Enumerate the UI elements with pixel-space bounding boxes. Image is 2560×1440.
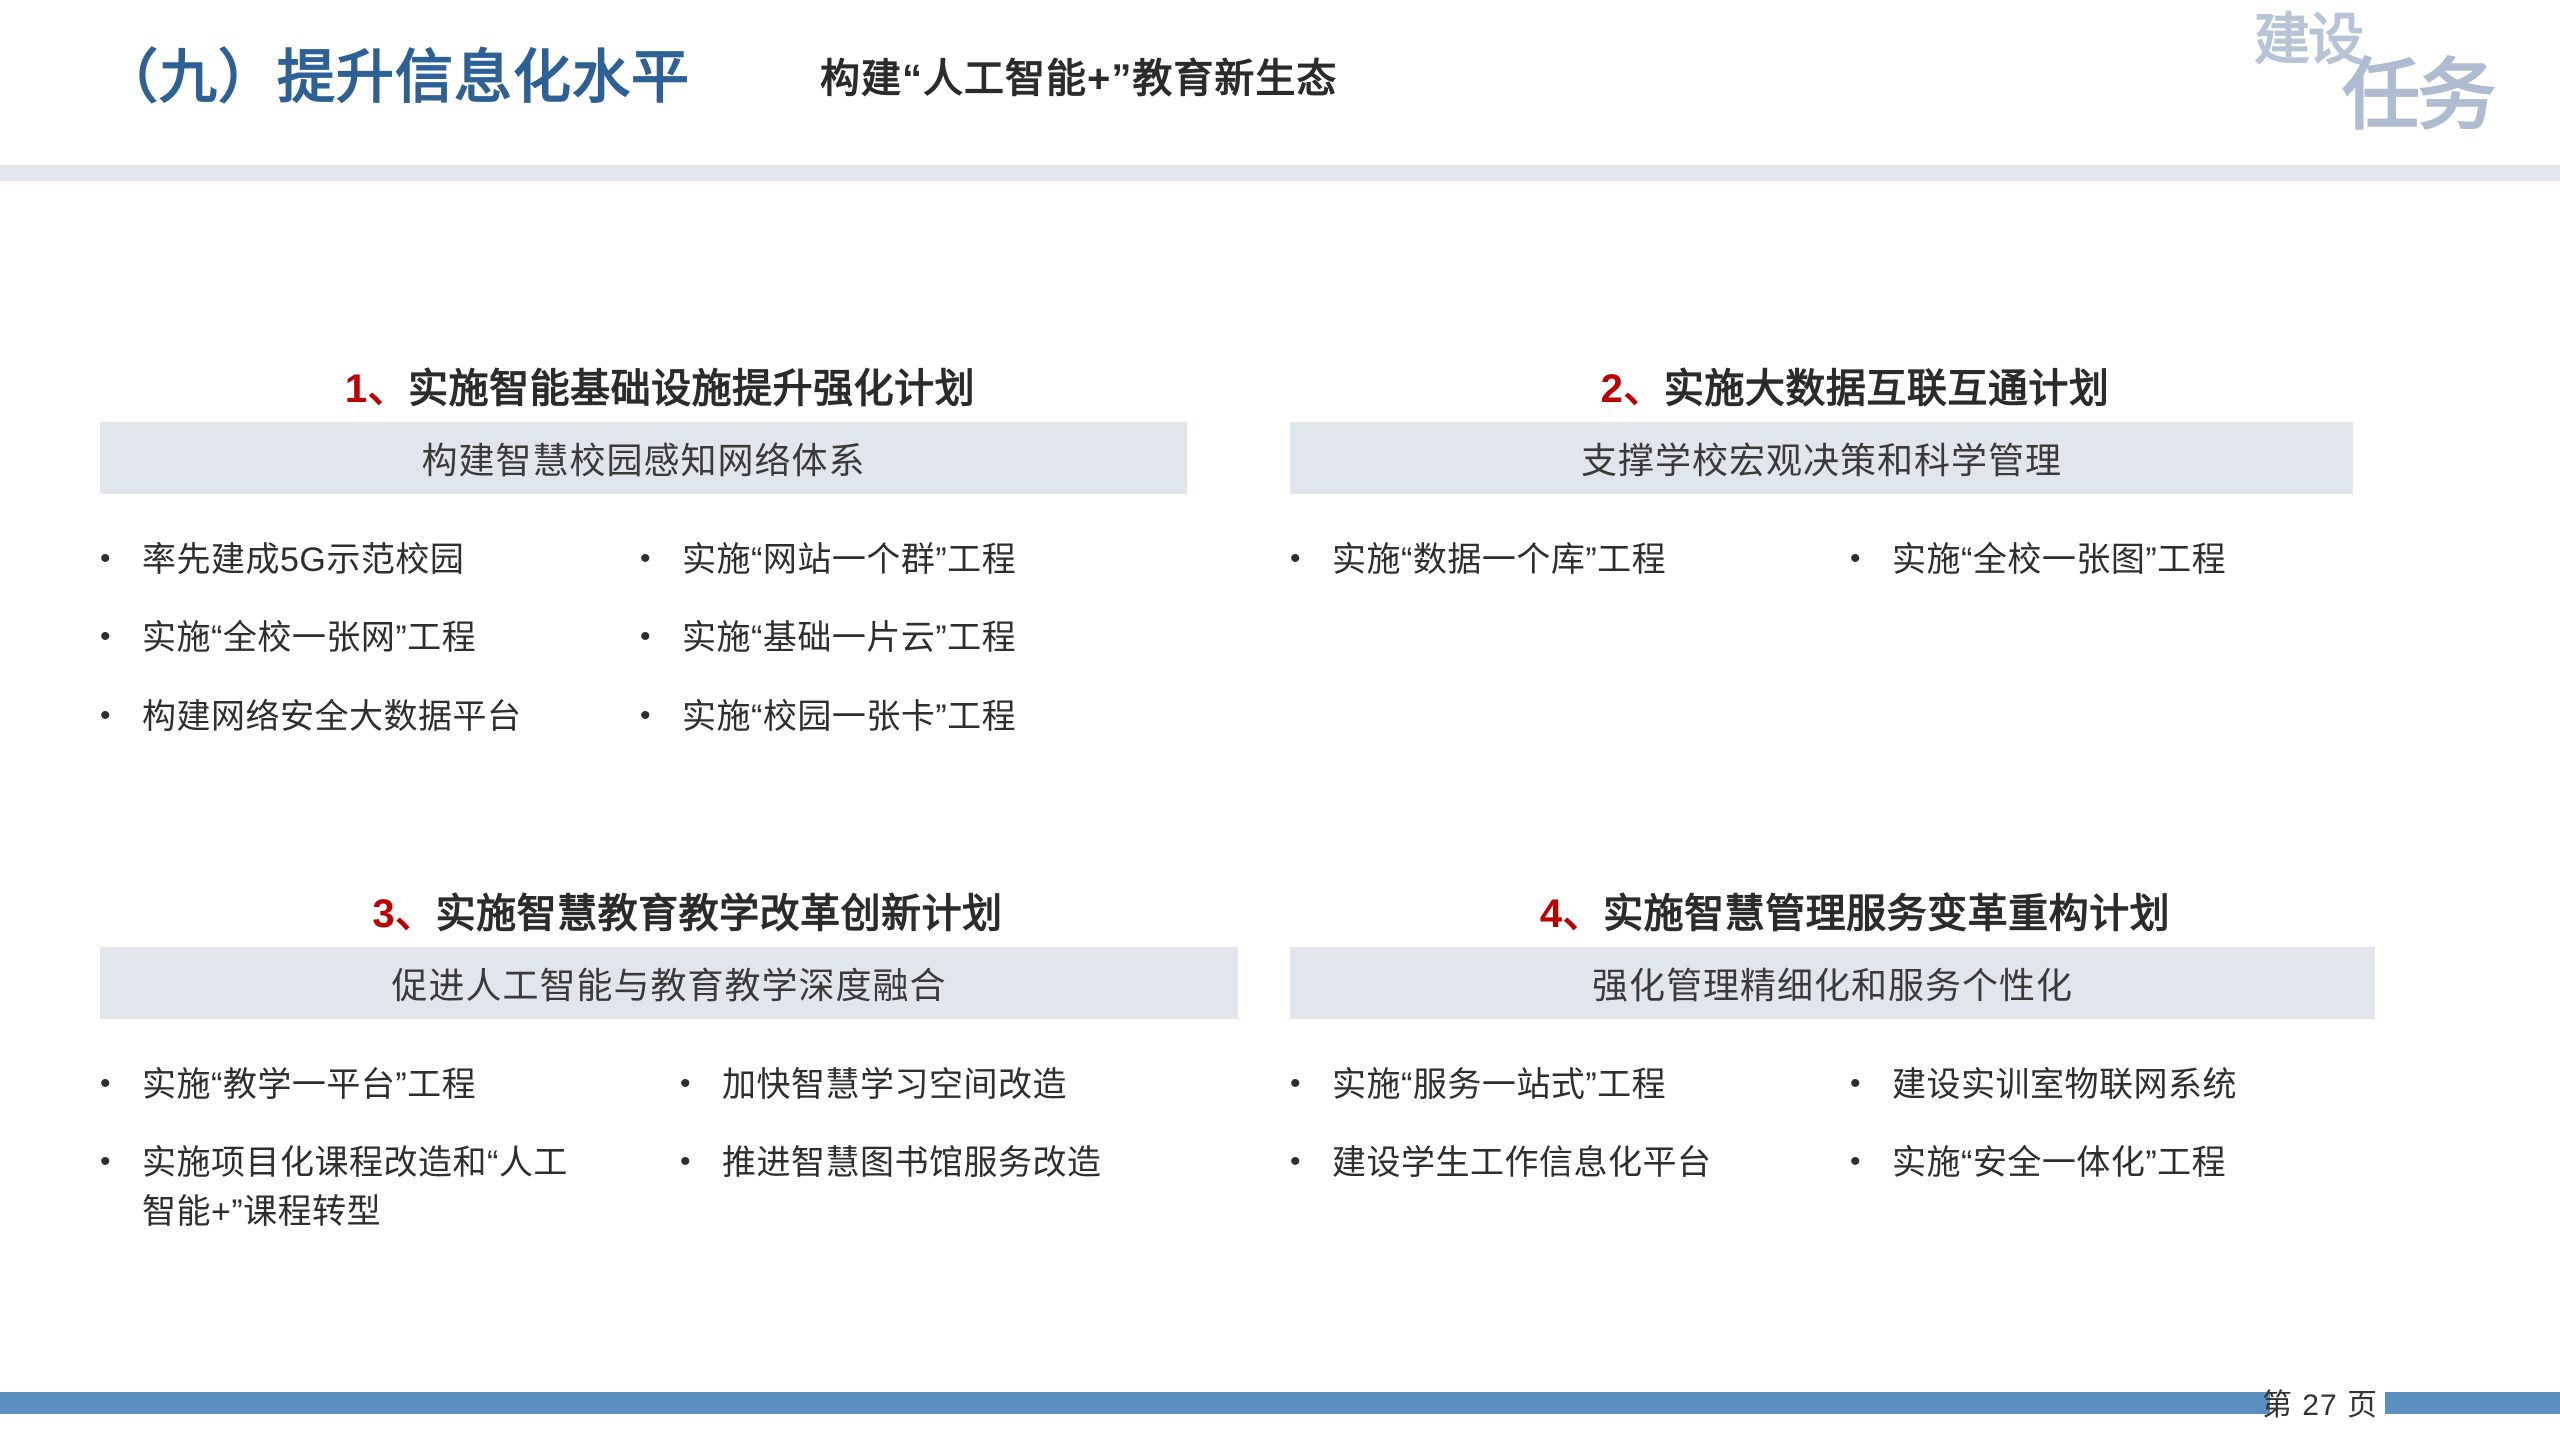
bullet-dot-icon: • xyxy=(100,693,142,740)
section-3-heading: 3、实施智慧教育教学改革创新计划 xyxy=(100,881,1275,939)
section-1-column-2: • 实施“网站一个群”工程 • 实施“基础一片云”工程 • 实施“校园一张卡”工… xyxy=(640,536,1180,771)
section-2-heading-text: 实施大数据互联互通计划 xyxy=(1664,367,2110,411)
list-item-label: 实施“教学一平台”工程 xyxy=(142,1061,680,1109)
bullet-dot-icon: • xyxy=(100,1061,142,1108)
section-2-number: 2、 xyxy=(1601,367,1664,411)
section-3-heading-text: 实施智慧教育教学改革创新计划 xyxy=(436,892,1003,936)
list-item: • 实施“服务一站式”工程 xyxy=(1290,1061,1850,1109)
section-2-bullets: • 实施“数据一个库”工程 • 实施“全校一张图”工程 xyxy=(1290,536,2420,614)
footer-bar-right xyxy=(2385,1392,2560,1414)
slide-header: （九）提升信息化水平 构建“人工智能+”教育新生态 建设 任务 xyxy=(0,0,2560,165)
section-2: 2、实施大数据互联互通计划 支撑学校宏观决策和科学管理 • 实施“数据一个库”工… xyxy=(1290,356,2420,614)
section-3-bullets: • 实施“教学一平台”工程 • 实施项目化课程改造和“人工智能+”课程转型 • … xyxy=(100,1061,1275,1266)
list-item: • 推进智慧图书馆服务改造 xyxy=(680,1139,1260,1187)
section-3-column-1: • 实施“教学一平台”工程 • 实施项目化课程改造和“人工智能+”课程转型 xyxy=(100,1061,680,1266)
list-item: • 建设学生工作信息化平台 xyxy=(1290,1139,1850,1187)
section-2-column-1: • 实施“数据一个库”工程 xyxy=(1290,536,1850,614)
section-3-band: 促进人工智能与教育教学深度融合 xyxy=(100,947,1238,1019)
list-item-label: 建设实训室物联网系统 xyxy=(1892,1061,2390,1109)
list-item-label: 实施项目化课程改造和“人工智能+”课程转型 xyxy=(142,1139,572,1236)
list-item-label: 实施“网站一个群”工程 xyxy=(682,536,1180,584)
section-4-column-1: • 实施“服务一站式”工程 • 建设学生工作信息化平台 xyxy=(1290,1061,1850,1218)
list-item: • 实施“基础一片云”工程 xyxy=(640,614,1180,662)
list-item-label: 率先建成5G示范校园 xyxy=(142,536,640,584)
section-4-band-text: 强化管理精细化和服务个性化 xyxy=(1592,957,2073,1009)
bullet-dot-icon: • xyxy=(1290,536,1332,583)
list-item: • 实施“数据一个库”工程 xyxy=(1290,536,1850,584)
page-number: 第 27 页 xyxy=(2262,1380,2378,1424)
section-2-band: 支撑学校宏观决策和科学管理 xyxy=(1290,422,2353,494)
list-item: • 实施“校园一张卡”工程 xyxy=(640,693,1180,741)
section-2-heading: 2、实施大数据互联互通计划 xyxy=(1290,356,2420,414)
section-4-number: 4、 xyxy=(1540,892,1603,936)
section-4-heading-text: 实施智慧管理服务变革重构计划 xyxy=(1603,892,2170,936)
header-divider-band xyxy=(0,165,2560,181)
section-2-band-text: 支撑学校宏观决策和科学管理 xyxy=(1581,432,2062,484)
section-4-heading: 4、实施智慧管理服务变革重构计划 xyxy=(1290,881,2420,939)
list-item: • 实施“教学一平台”工程 xyxy=(100,1061,680,1109)
list-item-label: 加快智慧学习空间改造 xyxy=(722,1061,1260,1109)
list-item-label: 推进智慧图书馆服务改造 xyxy=(722,1139,1260,1187)
list-item-label: 实施“服务一站式”工程 xyxy=(1332,1061,1850,1109)
list-item-label: 实施“安全一体化”工程 xyxy=(1892,1139,2390,1187)
bullet-dot-icon: • xyxy=(640,614,682,661)
bullet-dot-icon: • xyxy=(1850,1139,1892,1186)
list-item-label: 建设学生工作信息化平台 xyxy=(1332,1139,1850,1187)
section-2-column-2: • 实施“全校一张图”工程 xyxy=(1850,536,2390,614)
bullet-dot-icon: • xyxy=(1850,1061,1892,1108)
watermark-logo: 建设 任务 xyxy=(2202,8,2522,148)
bullet-dot-icon: • xyxy=(1290,1139,1332,1186)
list-item-label: 实施“数据一个库”工程 xyxy=(1332,536,1850,584)
slide-footer: 第 27 页 xyxy=(0,1360,2560,1440)
section-1-band-text: 构建智慧校园感知网络体系 xyxy=(421,432,865,484)
list-item-label: 实施“全校一张图”工程 xyxy=(1892,536,2390,584)
list-item: • 实施“安全一体化”工程 xyxy=(1850,1139,2390,1187)
list-item: • 建设实训室物联网系统 xyxy=(1850,1061,2390,1109)
list-item: • 构建网络安全大数据平台 xyxy=(100,693,640,741)
watermark-text-top: 建设 xyxy=(2254,12,2362,68)
section-4-band: 强化管理精细化和服务个性化 xyxy=(1290,947,2375,1019)
page-subtitle: 构建“人工智能+”教育新生态 xyxy=(820,46,1337,104)
list-item: • 实施“全校一张网”工程 xyxy=(100,614,640,662)
bullet-dot-icon: • xyxy=(100,536,142,583)
slide-body: 1、实施智能基础设施提升强化计划 构建智慧校园感知网络体系 • 率先建成5G示范… xyxy=(0,181,2560,1361)
page-title: （九）提升信息化水平 xyxy=(100,30,690,114)
section-3-band-text: 促进人工智能与教育教学深度融合 xyxy=(391,957,946,1009)
bullet-dot-icon: • xyxy=(680,1061,722,1108)
bullet-dot-icon: • xyxy=(680,1139,722,1186)
section-3-column-2: • 加快智慧学习空间改造 • 推进智慧图书馆服务改造 xyxy=(680,1061,1260,1266)
bullet-dot-icon: • xyxy=(640,693,682,740)
section-1-number: 1、 xyxy=(345,367,408,411)
bullet-dot-icon: • xyxy=(1850,536,1892,583)
list-item-label: 实施“基础一片云”工程 xyxy=(682,614,1180,662)
section-3-number: 3、 xyxy=(372,892,435,936)
list-item-label: 实施“全校一张网”工程 xyxy=(142,614,640,662)
list-item: • 实施“全校一张图”工程 xyxy=(1850,536,2390,584)
bullet-dot-icon: • xyxy=(100,1139,142,1186)
section-4-column-2: • 建设实训室物联网系统 • 实施“安全一体化”工程 xyxy=(1850,1061,2390,1218)
list-item: • 率先建成5G示范校园 xyxy=(100,536,640,584)
list-item-label: 实施“校园一张卡”工程 xyxy=(682,693,1180,741)
section-1-column-1: • 率先建成5G示范校园 • 实施“全校一张网”工程 • 构建网络安全大数据平台 xyxy=(100,536,640,771)
bullet-dot-icon: • xyxy=(640,536,682,583)
section-1-band: 构建智慧校园感知网络体系 xyxy=(100,422,1187,494)
list-item: • 加快智慧学习空间改造 xyxy=(680,1061,1260,1109)
footer-bar-left xyxy=(0,1392,2270,1414)
list-item: • 实施“网站一个群”工程 xyxy=(640,536,1180,584)
section-1-heading-text: 实施智能基础设施提升强化计划 xyxy=(408,367,975,411)
watermark-text-bottom: 任务 xyxy=(2342,56,2494,134)
section-1-heading: 1、实施智能基础设施提升强化计划 xyxy=(100,356,1220,414)
section-1: 1、实施智能基础设施提升强化计划 构建智慧校园感知网络体系 • 率先建成5G示范… xyxy=(100,356,1220,771)
bullet-dot-icon: • xyxy=(100,614,142,661)
section-4: 4、实施智慧管理服务变革重构计划 强化管理精细化和服务个性化 • 实施“服务一站… xyxy=(1290,881,2420,1218)
list-item: • 实施项目化课程改造和“人工智能+”课程转型 xyxy=(100,1139,680,1236)
list-item-label: 构建网络安全大数据平台 xyxy=(142,693,640,741)
section-1-bullets: • 率先建成5G示范校园 • 实施“全校一张网”工程 • 构建网络安全大数据平台… xyxy=(100,536,1220,771)
section-4-bullets: • 实施“服务一站式”工程 • 建设学生工作信息化平台 • 建设实训室物联网系统… xyxy=(1290,1061,2420,1218)
section-3: 3、实施智慧教育教学改革创新计划 促进人工智能与教育教学深度融合 • 实施“教学… xyxy=(100,881,1275,1266)
bullet-dot-icon: • xyxy=(1290,1061,1332,1108)
